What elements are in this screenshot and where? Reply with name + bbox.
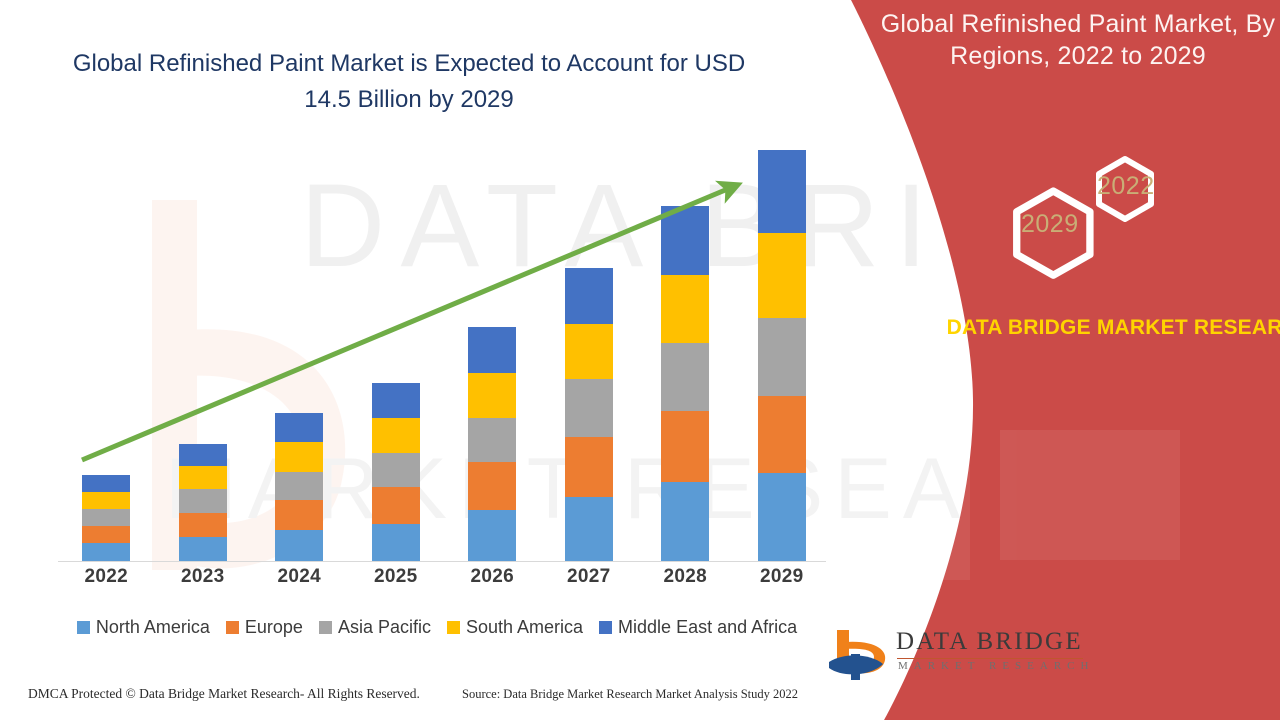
bar-segment xyxy=(372,383,420,418)
x-axis-label: 2024 xyxy=(251,566,348,588)
legend-label: Middle East and Africa xyxy=(618,617,797,638)
bar-segment xyxy=(179,513,227,537)
bar-segment xyxy=(82,509,130,526)
bar-segment xyxy=(468,418,516,462)
bar-segment xyxy=(565,379,613,436)
bar-segment xyxy=(661,343,709,411)
bar-group xyxy=(541,150,638,561)
stacked-bar xyxy=(468,327,516,561)
chart-axis-line xyxy=(58,561,826,562)
stacked-bar xyxy=(275,413,323,561)
brand-name: DATA BRIDGE MARKET RESEARCH xyxy=(940,312,1280,344)
bar-segment xyxy=(758,150,806,233)
bar-segment xyxy=(82,475,130,492)
bar-group xyxy=(348,150,445,561)
bar-segment xyxy=(179,489,227,512)
bar-segment xyxy=(372,524,420,561)
bar-segment xyxy=(179,537,227,561)
logo-mark-icon xyxy=(827,624,897,682)
bar-segment xyxy=(661,482,709,561)
stacked-bar xyxy=(565,268,613,561)
legend-swatch-icon xyxy=(599,621,612,634)
legend-label: South America xyxy=(466,617,583,638)
bar-segment xyxy=(82,526,130,544)
bar-group xyxy=(444,150,541,561)
bar-group xyxy=(58,150,155,561)
infographic-canvas: DATA BRIDGE MARKET RESEARCH Global Refin… xyxy=(0,0,1280,720)
hexagon-label-start: 2022 xyxy=(1097,172,1155,201)
logo-text-main: DATA BRIDGE xyxy=(896,628,1083,656)
bar-segment xyxy=(661,411,709,482)
bar-segment xyxy=(275,413,323,442)
x-axis-label: 2023 xyxy=(155,566,252,588)
legend-item[interactable]: Asia Pacific xyxy=(319,617,431,638)
stacked-bar xyxy=(661,206,709,561)
bar-segment xyxy=(372,487,420,523)
bar-segment xyxy=(468,327,516,372)
bar-segment xyxy=(179,466,227,489)
bar-segment xyxy=(82,543,130,561)
stacked-bar xyxy=(372,383,420,561)
legend-item[interactable]: North America xyxy=(77,617,210,638)
bar-segment xyxy=(468,510,516,561)
x-axis-label: 2026 xyxy=(444,566,541,588)
bar-segment xyxy=(275,472,323,501)
bar-segment xyxy=(758,396,806,473)
legend-swatch-icon xyxy=(319,621,332,634)
legend-label: Asia Pacific xyxy=(338,617,431,638)
bar-segment xyxy=(565,324,613,379)
panel-title: Global Refinished Paint Market, By Regio… xyxy=(880,8,1276,72)
x-axis-label: 2029 xyxy=(734,566,831,588)
bar-segment xyxy=(565,268,613,324)
hexagon-label-end: 2029 xyxy=(1021,210,1079,239)
bar-segment xyxy=(758,318,806,396)
bar-group xyxy=(734,150,831,561)
chart-x-axis-labels: 20222023202420252026202720282029 xyxy=(58,566,830,588)
stacked-bar-chart xyxy=(58,150,830,562)
legend-swatch-icon xyxy=(77,621,90,634)
x-axis-label: 2022 xyxy=(58,566,155,588)
legend-label: Europe xyxy=(245,617,303,638)
legend-item[interactable]: Middle East and Africa xyxy=(599,617,797,638)
chart-bars xyxy=(58,150,830,561)
bar-group xyxy=(155,150,252,561)
bar-segment xyxy=(275,442,323,472)
legend-swatch-icon xyxy=(447,621,460,634)
company-logo: DATA BRIDGE MARKET RESEARCH xyxy=(895,628,1105,690)
x-axis-label: 2025 xyxy=(348,566,445,588)
stacked-bar xyxy=(82,475,130,561)
stacked-bar xyxy=(758,150,806,561)
hexagon-outline-icon xyxy=(985,152,1185,287)
x-axis-label: 2028 xyxy=(637,566,734,588)
bar-segment xyxy=(372,418,420,453)
page-title: Global Refinished Paint Market is Expect… xyxy=(64,46,754,118)
footer-copyright: DMCA Protected © Data Bridge Market Rese… xyxy=(28,686,420,702)
logo-text-sub: MARKET RESEARCH xyxy=(898,660,1094,672)
footer-source: Source: Data Bridge Market Research Mark… xyxy=(462,687,798,702)
bar-segment xyxy=(275,500,323,530)
bar-segment xyxy=(758,233,806,318)
chart-legend: North AmericaEuropeAsia PacificSouth Ame… xyxy=(42,617,832,638)
bar-segment xyxy=(275,530,323,561)
legend-label: North America xyxy=(96,617,210,638)
bar-group xyxy=(251,150,348,561)
bar-segment xyxy=(565,497,613,561)
bar-segment xyxy=(179,444,227,466)
bar-segment xyxy=(758,473,806,561)
legend-item[interactable]: South America xyxy=(447,617,583,638)
bar-segment xyxy=(372,453,420,487)
logo-divider xyxy=(897,658,1083,659)
bar-segment xyxy=(661,206,709,274)
bar-segment xyxy=(468,462,516,510)
bar-segment xyxy=(82,492,130,510)
bar-segment xyxy=(565,437,613,498)
legend-item[interactable]: Europe xyxy=(226,617,303,638)
bar-segment xyxy=(468,373,516,418)
bar-segment xyxy=(661,275,709,343)
legend-swatch-icon xyxy=(226,621,239,634)
stacked-bar xyxy=(179,444,227,561)
bar-group xyxy=(637,150,734,561)
x-axis-label: 2027 xyxy=(541,566,638,588)
hexagon-badges xyxy=(985,152,1185,287)
